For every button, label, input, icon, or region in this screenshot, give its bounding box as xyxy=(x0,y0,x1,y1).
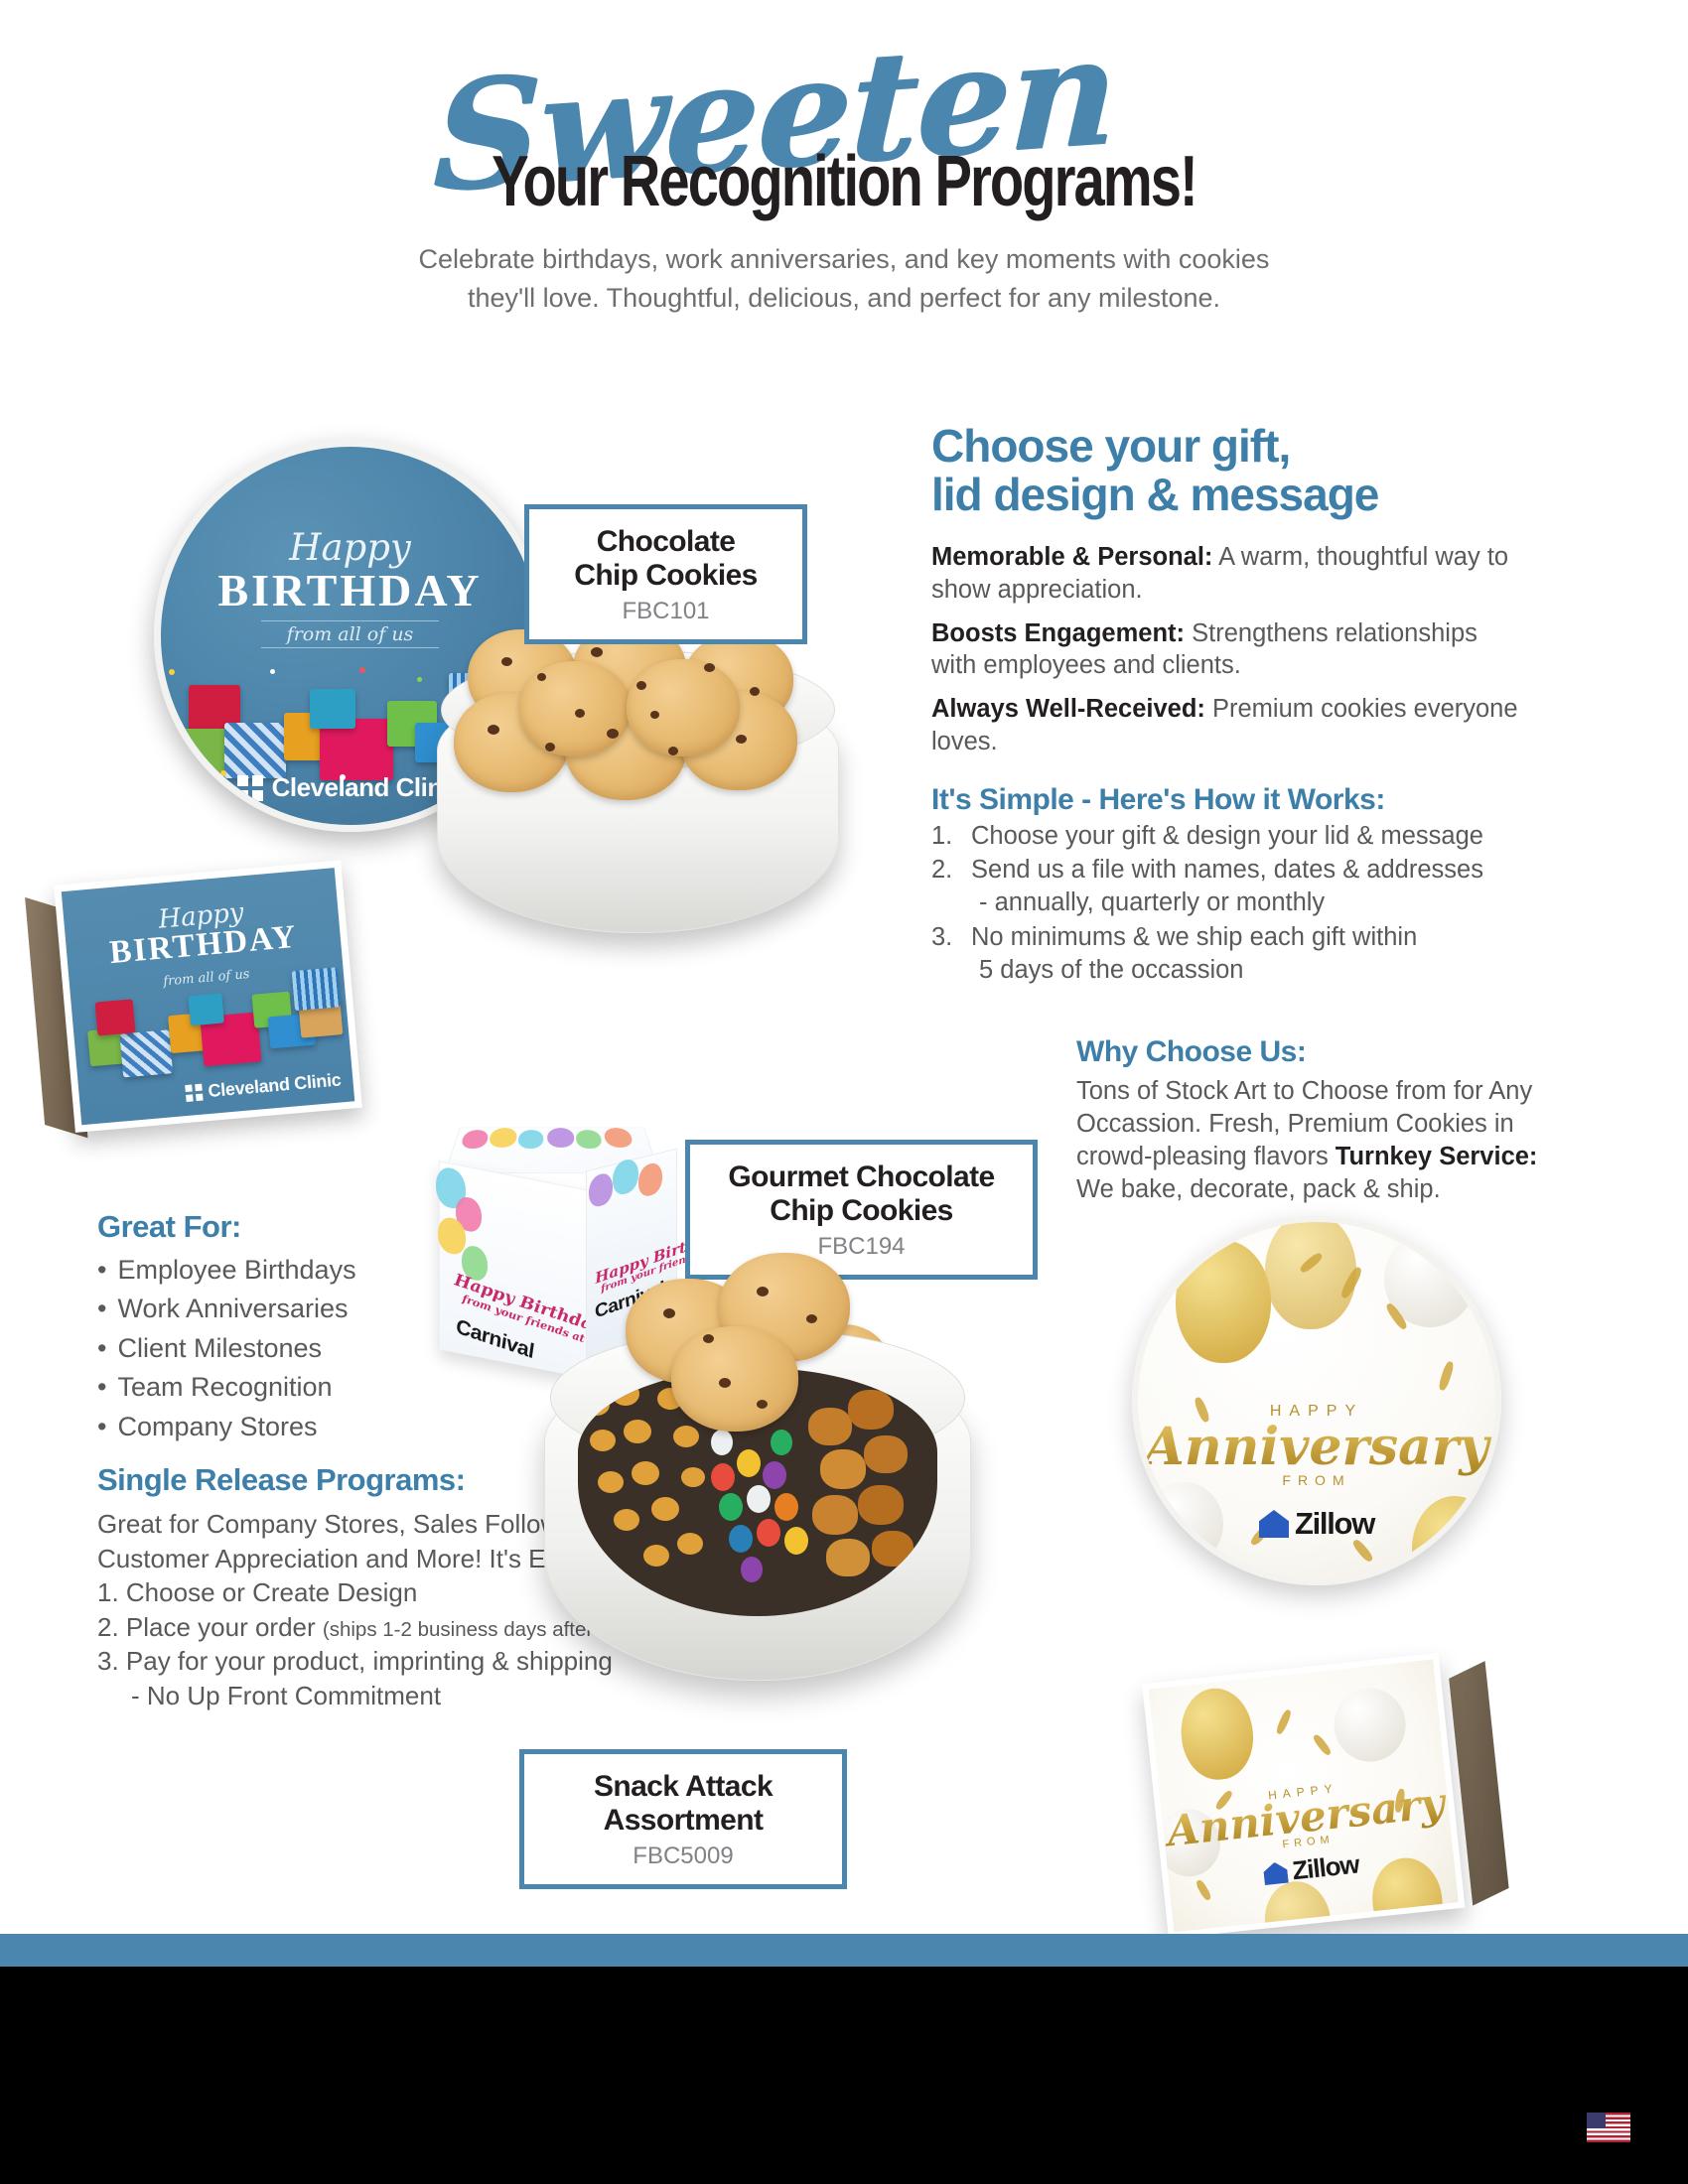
cleveland-clinic-logo-icon xyxy=(185,1084,203,1102)
page-subtitle: Celebrate birthdays, work anniversaries,… xyxy=(343,240,1345,318)
page-title: Your Recognition Programs! xyxy=(186,141,1502,222)
subtitle-line-2: they'll love. Thoughtful, delicious, and… xyxy=(343,279,1345,318)
product-sku: FBC5009 xyxy=(544,1843,822,1870)
snack-attack-tin-image xyxy=(544,1291,971,1688)
product-name: Snack Attack Assortment xyxy=(544,1770,822,1838)
choose-title: Choose your gift, lid design & message xyxy=(931,422,1527,519)
how-it-works-section: It's Simple - Here's How it Works: 1.Cho… xyxy=(931,783,1527,987)
product-label-fbc5009[interactable]: Snack Attack Assortment FBC5009 xyxy=(519,1749,847,1889)
product-sku: FBC101 xyxy=(549,598,782,625)
why-choose-us-body: Tons of Stock Art to Choose from for Any… xyxy=(1076,1075,1543,1207)
list-item: Company Stores xyxy=(97,1408,514,1446)
why-choose-us-section: Why Choose Us: Tons of Stock Art to Choo… xyxy=(1076,1035,1543,1207)
cleveland-clinic-logo-icon xyxy=(237,775,263,801)
brand-label: Zillow xyxy=(1295,1506,1374,1542)
how-it-works-list: 1.Choose your gift & design your lid & m… xyxy=(931,820,1527,987)
product-label-fbc101[interactable]: Chocolate Chip Cookies FBC101 xyxy=(524,504,807,644)
benefit-item: Always Well-Received: Premium cookies ev… xyxy=(931,693,1527,757)
how-it-works-title: It's Simple - Here's How it Works: xyxy=(931,783,1527,817)
birthday-greeting-card-image: Happy BIRTHDAY from all of us xyxy=(24,861,362,1146)
product-name: Chocolate Chip Cookies xyxy=(549,525,782,593)
anniv-from-text: FROM xyxy=(1138,1472,1495,1488)
tin-rim xyxy=(441,650,835,769)
card-face: HAPPY Anniversary FROM Zillow xyxy=(1142,1653,1465,1939)
list-item: 1.Choose your gift & design your lid & m… xyxy=(931,820,1527,853)
anniversary-tin-lid-image: HAPPY Anniversary FROM Zillow xyxy=(1132,1216,1501,1585)
us-flag-icon xyxy=(1587,2113,1630,2142)
zillow-brand: Zillow xyxy=(1138,1506,1495,1542)
page-header: Sweeten Your Recognition Programs! Celeb… xyxy=(0,40,1688,318)
card-face: Happy BIRTHDAY from all of us xyxy=(54,861,362,1133)
product-label-fbc194[interactable]: Gourmet Chocolate Chip Cookies FBC194 xyxy=(685,1140,1038,1280)
brand-label: Zillow xyxy=(1291,1849,1360,1887)
why-choose-us-title: Why Choose Us: xyxy=(1076,1035,1543,1069)
anniversary-greeting-card-image: HAPPY Anniversary FROM Zillow xyxy=(1142,1649,1501,1946)
flyer-page: Sweeten Your Recognition Programs! Celeb… xyxy=(0,0,1688,2184)
tin-happy-text: Happy xyxy=(161,526,539,569)
list-item: 3.No minimums & we ship each gift within… xyxy=(931,921,1527,987)
product-name: Gourmet Chocolate Chip Cookies xyxy=(710,1160,1013,1228)
footer-black-bar xyxy=(0,1967,1688,2184)
zillow-logo-icon xyxy=(1263,1861,1289,1885)
benefit-item: Boosts Engagement: Strengthens relations… xyxy=(931,617,1527,682)
list-item: 2.Send us a file with names, dates & add… xyxy=(931,854,1527,919)
benefit-item: Memorable & Personal: A warm, thoughtful… xyxy=(931,541,1527,606)
tin-birthday-text: BIRTHDAY xyxy=(161,564,539,616)
zillow-logo-icon xyxy=(1259,1510,1289,1538)
brand-label: Cleveland Clinic xyxy=(272,772,464,803)
benefits-list: Memorable & Personal: A warm, thoughtful… xyxy=(931,541,1527,757)
choose-your-gift-section: Choose your gift, lid design & message M… xyxy=(931,422,1527,988)
footer-blue-bar xyxy=(0,1934,1688,1967)
subtitle-line-1: Celebrate birthdays, work anniversaries,… xyxy=(343,240,1345,279)
anniv-script-text: Anniversary xyxy=(1138,1417,1495,1477)
chocolate-chip-cookie-tin-image xyxy=(437,611,839,943)
